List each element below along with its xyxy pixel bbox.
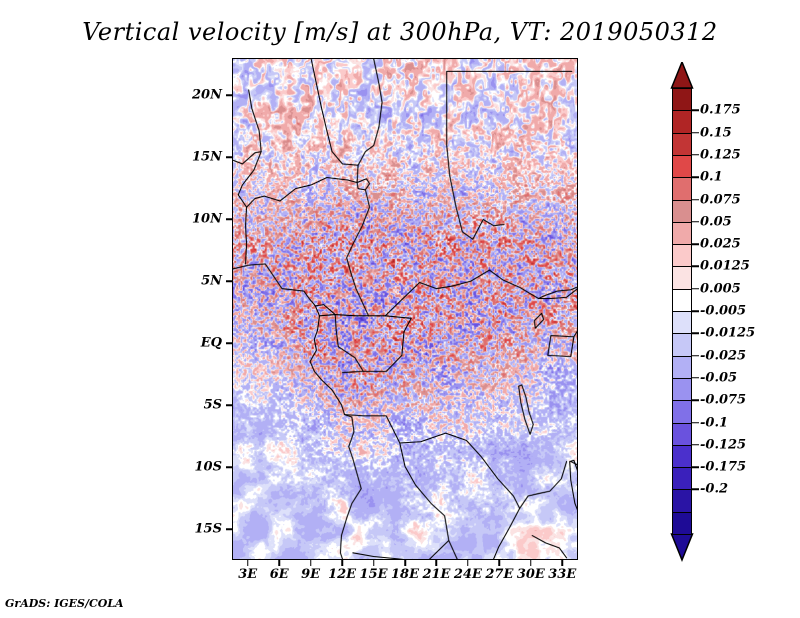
colorbar-tick-label: -0.2 [700, 482, 728, 497]
colorbar-band [672, 378, 692, 402]
colorbar-tick-label: 0.175 [700, 103, 741, 118]
colorbar-tick-label: -0.1 [700, 415, 728, 430]
colorbar-tick-mark [692, 333, 699, 335]
colorbar-band [672, 512, 692, 536]
colorbar-tick-mark [692, 422, 699, 424]
x-axis-tick-label: 3E [238, 567, 257, 582]
colorbar-band [672, 222, 692, 246]
y-axis-tick-label: 15N [0, 150, 222, 165]
colorbar-tick-label: 0.125 [700, 147, 741, 162]
colorbar-tick-mark [692, 154, 699, 156]
y-axis-tick-label: EQ [0, 336, 222, 351]
x-axis-tick-label: 24E [454, 567, 482, 582]
x-axis-tick-mark [310, 560, 312, 566]
x-axis-tick-label: 18E [391, 567, 419, 582]
colorbar-tick-mark [692, 110, 699, 112]
y-axis-tick-mark [226, 94, 232, 96]
colorbar-tick-label: -0.0125 [700, 326, 755, 341]
colorbar-tick-mark [692, 466, 699, 468]
colorbar-tick-mark [692, 221, 699, 223]
x-axis-tick-label: 27E [485, 567, 513, 582]
x-axis-tick-label: 12E [328, 567, 356, 582]
colorbar-tick-label: -0.175 [700, 460, 746, 475]
colorbar-band [672, 155, 692, 179]
x-axis-tick-mark [562, 560, 564, 566]
footer-credit: GrADS: IGES/COLA [5, 597, 124, 610]
colorbar-band [672, 200, 692, 224]
colorbar-band [672, 177, 692, 201]
colorbar-tick-mark [692, 199, 699, 201]
colorbar-tick-label: -0.025 [700, 348, 746, 363]
colorbar-tick-mark [692, 399, 699, 401]
y-axis-tick-mark [226, 156, 232, 158]
x-axis-tick-mark [467, 560, 469, 566]
y-axis-tick-label: 5S [0, 398, 222, 413]
y-axis-tick-mark [226, 280, 232, 282]
x-axis-tick-label: 30E [517, 567, 545, 582]
colorbar-band [672, 356, 692, 380]
colorbar-tick-label: 0.05 [700, 214, 732, 229]
colorbar-tick-label: -0.125 [700, 437, 746, 452]
colorbar-tick-label: -0.075 [700, 393, 746, 408]
colorbar-tick-mark [692, 288, 699, 290]
colorbar-tick-label: 0.025 [700, 237, 741, 252]
colorbar-band [672, 311, 692, 335]
x-axis-tick-label: 33E [548, 567, 576, 582]
colorbar-tick-mark [692, 377, 699, 379]
colorbar-tick-mark [692, 489, 699, 491]
colorbar-band [672, 244, 692, 268]
x-axis-tick-label: 6E [270, 567, 289, 582]
y-axis-tick-label: 20N [0, 88, 222, 103]
x-axis-tick-label: 9E [301, 567, 320, 582]
colorbar-band [672, 445, 692, 469]
y-axis-tick-label: 10N [0, 212, 222, 227]
colorbar-band [672, 489, 692, 513]
colorbar-band [672, 133, 692, 157]
colorbar-tick-mark [692, 176, 699, 178]
x-axis-tick-mark [341, 560, 343, 566]
y-axis-tick-label: 5N [0, 274, 222, 289]
colorbar-band [672, 88, 692, 112]
colorbar-band [672, 333, 692, 357]
map-plot-area [232, 58, 578, 560]
colorbar-tick-mark [692, 355, 699, 357]
colorbar-band [672, 266, 692, 290]
colorbar-tick-label: 0.0125 [700, 259, 750, 274]
x-axis-tick-label: 15E [360, 567, 388, 582]
colorbar-band [672, 289, 692, 313]
page-title: Vertical velocity [m/s] at 300hPa, VT: 2… [0, 18, 800, 46]
colorbar-tick-mark [692, 444, 699, 446]
colorbar-tick-mark [692, 132, 699, 134]
colorbar: 0.1750.150.1250.10.0750.050.0250.01250.0… [668, 62, 798, 562]
y-axis-tick-mark [226, 404, 232, 406]
y-axis-tick-label: 15S [0, 522, 222, 537]
x-axis-tick-mark [278, 560, 280, 566]
x-axis-tick-mark [404, 560, 406, 566]
y-axis-tick-label: 10S [0, 460, 222, 475]
x-axis-tick-mark [247, 560, 249, 566]
colorbar-tick-label: -0.05 [700, 370, 737, 385]
colorbar-tick-label: 0.15 [700, 125, 732, 140]
x-axis-tick-mark [373, 560, 375, 566]
x-axis-tick-mark [436, 560, 438, 566]
colorbar-tick-mark [692, 243, 699, 245]
colorbar-tick-label: 0.1 [700, 170, 723, 185]
colorbar-tick-label: 0.005 [700, 281, 741, 296]
colorbar-tick-label: 0.075 [700, 192, 741, 207]
x-axis-tick-mark [530, 560, 532, 566]
y-axis-tick-mark [226, 528, 232, 530]
colorbar-band [672, 110, 692, 134]
colorbar-band [672, 423, 692, 447]
colorbar-band [672, 400, 692, 424]
vertical-velocity-heatmap [233, 59, 577, 559]
x-axis-tick-mark [499, 560, 501, 566]
colorbar-tick-mark [692, 266, 699, 268]
colorbar-tick-label: -0.005 [700, 304, 746, 319]
y-axis-tick-mark [226, 218, 232, 220]
x-axis-tick-label: 21E [422, 567, 450, 582]
colorbar-tick-mark [692, 310, 699, 312]
colorbar-band [672, 467, 692, 491]
y-axis-tick-mark [226, 466, 232, 468]
y-axis-tick-mark [226, 342, 232, 344]
